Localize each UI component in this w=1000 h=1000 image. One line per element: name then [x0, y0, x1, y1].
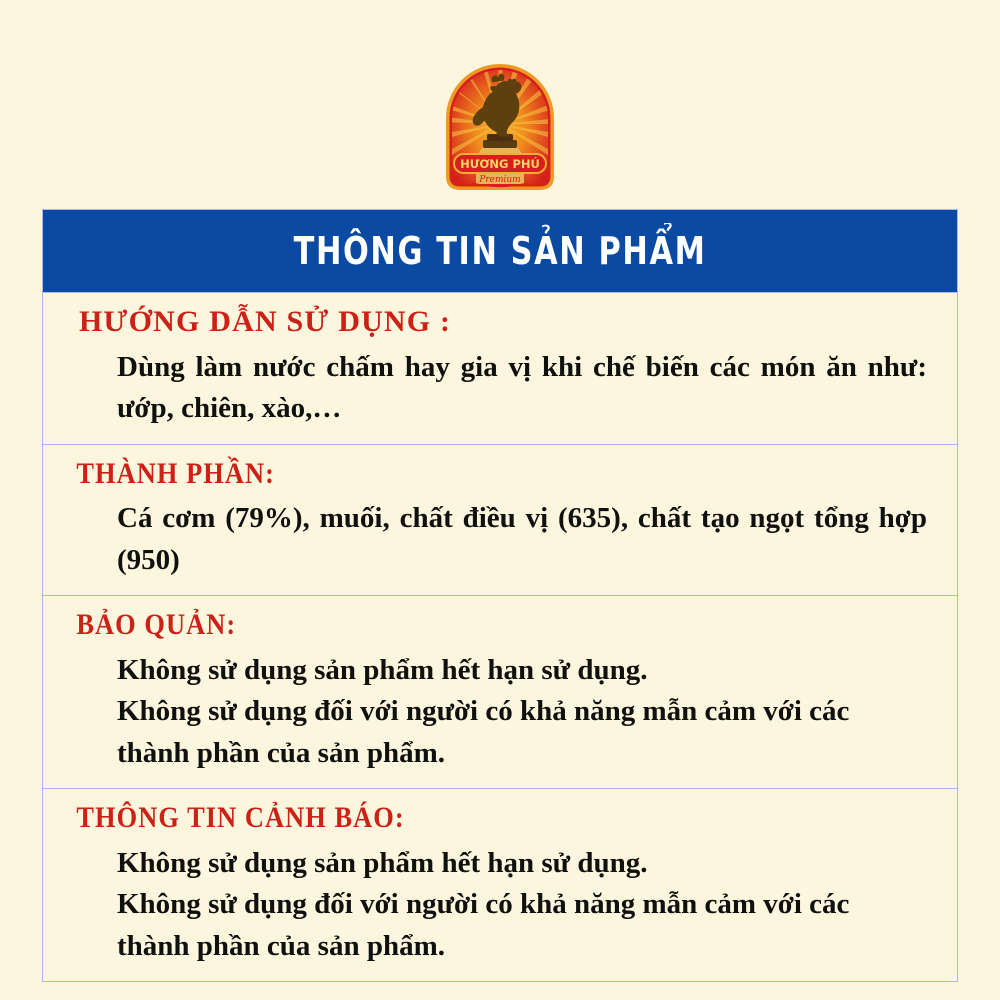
section-body: Không sử dụng sản phẩm hết hạn sử dụng. …	[57, 838, 943, 967]
section-body: Cá cơm (79%), muối, chất điều vị (635), …	[57, 493, 943, 581]
section-body-line: Không sử dụng đối với người có khả năng …	[117, 884, 927, 967]
product-info-table: THÔNG TIN SẢN PHẨM HƯỚNG DẪN SỬ DỤNG : D…	[42, 210, 958, 982]
logo-tagline: Premium	[478, 175, 520, 185]
product-info-page: HƯƠNG PHÚ Premium THÔNG TIN SẢN PHẨM HƯỚ…	[0, 0, 1000, 1000]
section-body-line: Không sử dụng sản phẩm hết hạn sử dụng.	[117, 843, 927, 884]
section-body-line: Dùng làm nước chấm hay gia vị khi chế bi…	[117, 347, 927, 430]
product-info-banner: THÔNG TIN SẢN PHẨM	[42, 209, 958, 293]
section-body: Không sử dụng sản phẩm hết hạn sử dụng. …	[57, 645, 943, 774]
rooster-fish-sauce-jar-logo: HƯƠNG PHÚ Premium	[440, 62, 560, 192]
section-heading: HƯỚNG DẪN SỬ DỤNG :	[57, 302, 943, 342]
brand-logo: HƯƠNG PHÚ Premium	[0, 62, 1000, 192]
banner-title: THÔNG TIN SẢN PHẨM	[294, 229, 707, 273]
section-warning-information: THÔNG TIN CẢNH BÁO: Không sử dụng sản ph…	[43, 789, 957, 981]
section-storage: BẢO QUẢN: Không sử dụng sản phẩm hết hạn…	[43, 596, 957, 789]
logo-brand-name: HƯƠNG PHÚ	[460, 156, 540, 171]
section-body-line: Không sử dụng đối với người có khả năng …	[117, 691, 927, 774]
section-body: Dùng làm nước chấm hay gia vị khi chế bi…	[57, 342, 943, 430]
section-usage-instructions: HƯỚNG DẪN SỬ DỤNG : Dùng làm nước chấm h…	[43, 293, 957, 445]
section-heading: THÔNG TIN CẢNH BÁO:	[57, 798, 837, 838]
logo-brand-ribbon: HƯƠNG PHÚ	[454, 154, 546, 173]
section-heading: BẢO QUẢN:	[57, 605, 837, 645]
section-body-line: Cá cơm (79%), muối, chất điều vị (635), …	[117, 498, 927, 581]
section-body-line: Không sử dụng sản phẩm hết hạn sử dụng.	[117, 650, 927, 691]
section-ingredients: THÀNH PHẦN: Cá cơm (79%), muối, chất điề…	[43, 445, 957, 597]
section-heading: THÀNH PHẦN:	[57, 454, 837, 494]
